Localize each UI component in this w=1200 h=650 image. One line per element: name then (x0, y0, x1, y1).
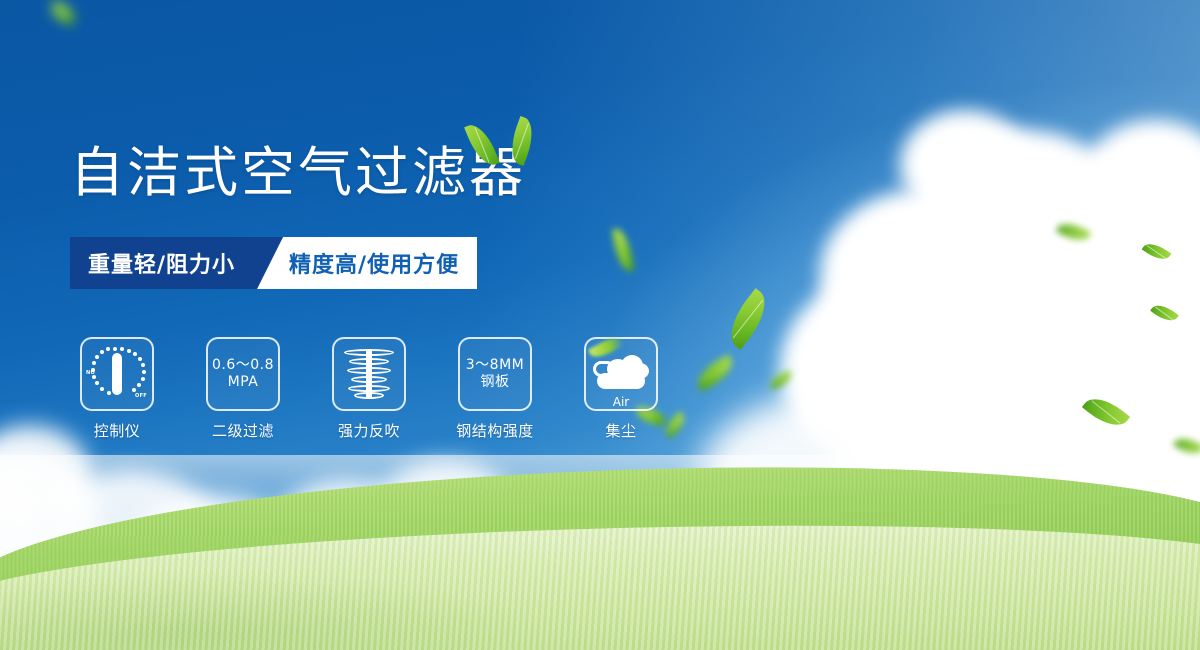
coil-blowback-icon (342, 349, 396, 399)
pressure-value-line1: 0.6～0.8 (212, 357, 274, 374)
subtitle-banner: 重量轻/阻力小 精度高/使用方便 (70, 237, 477, 289)
feature-label: 控制仪 (94, 420, 141, 441)
feature-box: NO OFF (80, 337, 154, 411)
subtitle-right-text: 精度高/使用方便 (283, 237, 477, 289)
feature-label: 集尘 (605, 420, 636, 441)
dial-off-label: OFF (135, 393, 147, 399)
feature-label: 钢结构强度 (456, 420, 534, 441)
feature-list: NO OFF 控制仪 0.6～0.8 MPA 二级过滤 (80, 337, 658, 441)
dial-no-label: NO (86, 370, 95, 376)
air-cloud-icon: Air (593, 353, 649, 395)
feature-box: Air (584, 337, 658, 411)
page-title: 自洁式空气过滤器 (70, 142, 526, 204)
feature-item-dust-collection[interactable]: Air 集尘 (584, 337, 658, 441)
pressure-value-line2: MPA (228, 374, 259, 391)
feature-label: 强力反吹 (338, 420, 400, 441)
air-text-label: Air (593, 395, 649, 409)
feature-box: 0.6～0.8 MPA (206, 337, 280, 411)
feature-box (332, 337, 406, 411)
steel-value-line2: 钢板 (481, 374, 510, 391)
control-dial-icon: NO OFF (87, 345, 147, 403)
feature-item-strong-blowback[interactable]: 强力反吹 (332, 337, 406, 441)
sprout-leaves-decoration (468, 112, 548, 174)
subtitle-left-text: 重量轻/阻力小 (70, 237, 257, 289)
leaf-icon (505, 116, 540, 166)
steel-value-line1: 3～8MM (466, 357, 524, 374)
subtitle-slant-divider (257, 237, 283, 289)
feature-item-steel-strength[interactable]: 3～8MM 钢板 钢结构强度 (458, 337, 532, 441)
feature-item-control-dial[interactable]: NO OFF 控制仪 (80, 337, 154, 441)
feature-label: 二级过滤 (212, 420, 274, 441)
feature-box: 3～8MM 钢板 (458, 337, 532, 411)
feature-item-two-stage-filter[interactable]: 0.6～0.8 MPA 二级过滤 (206, 337, 280, 441)
leaf-icon (464, 120, 500, 170)
product-hero-banner: 自洁式空气过滤器 重量轻/阻力小 精度高/使用方便 (0, 0, 1200, 650)
leaf-icon (588, 334, 624, 361)
